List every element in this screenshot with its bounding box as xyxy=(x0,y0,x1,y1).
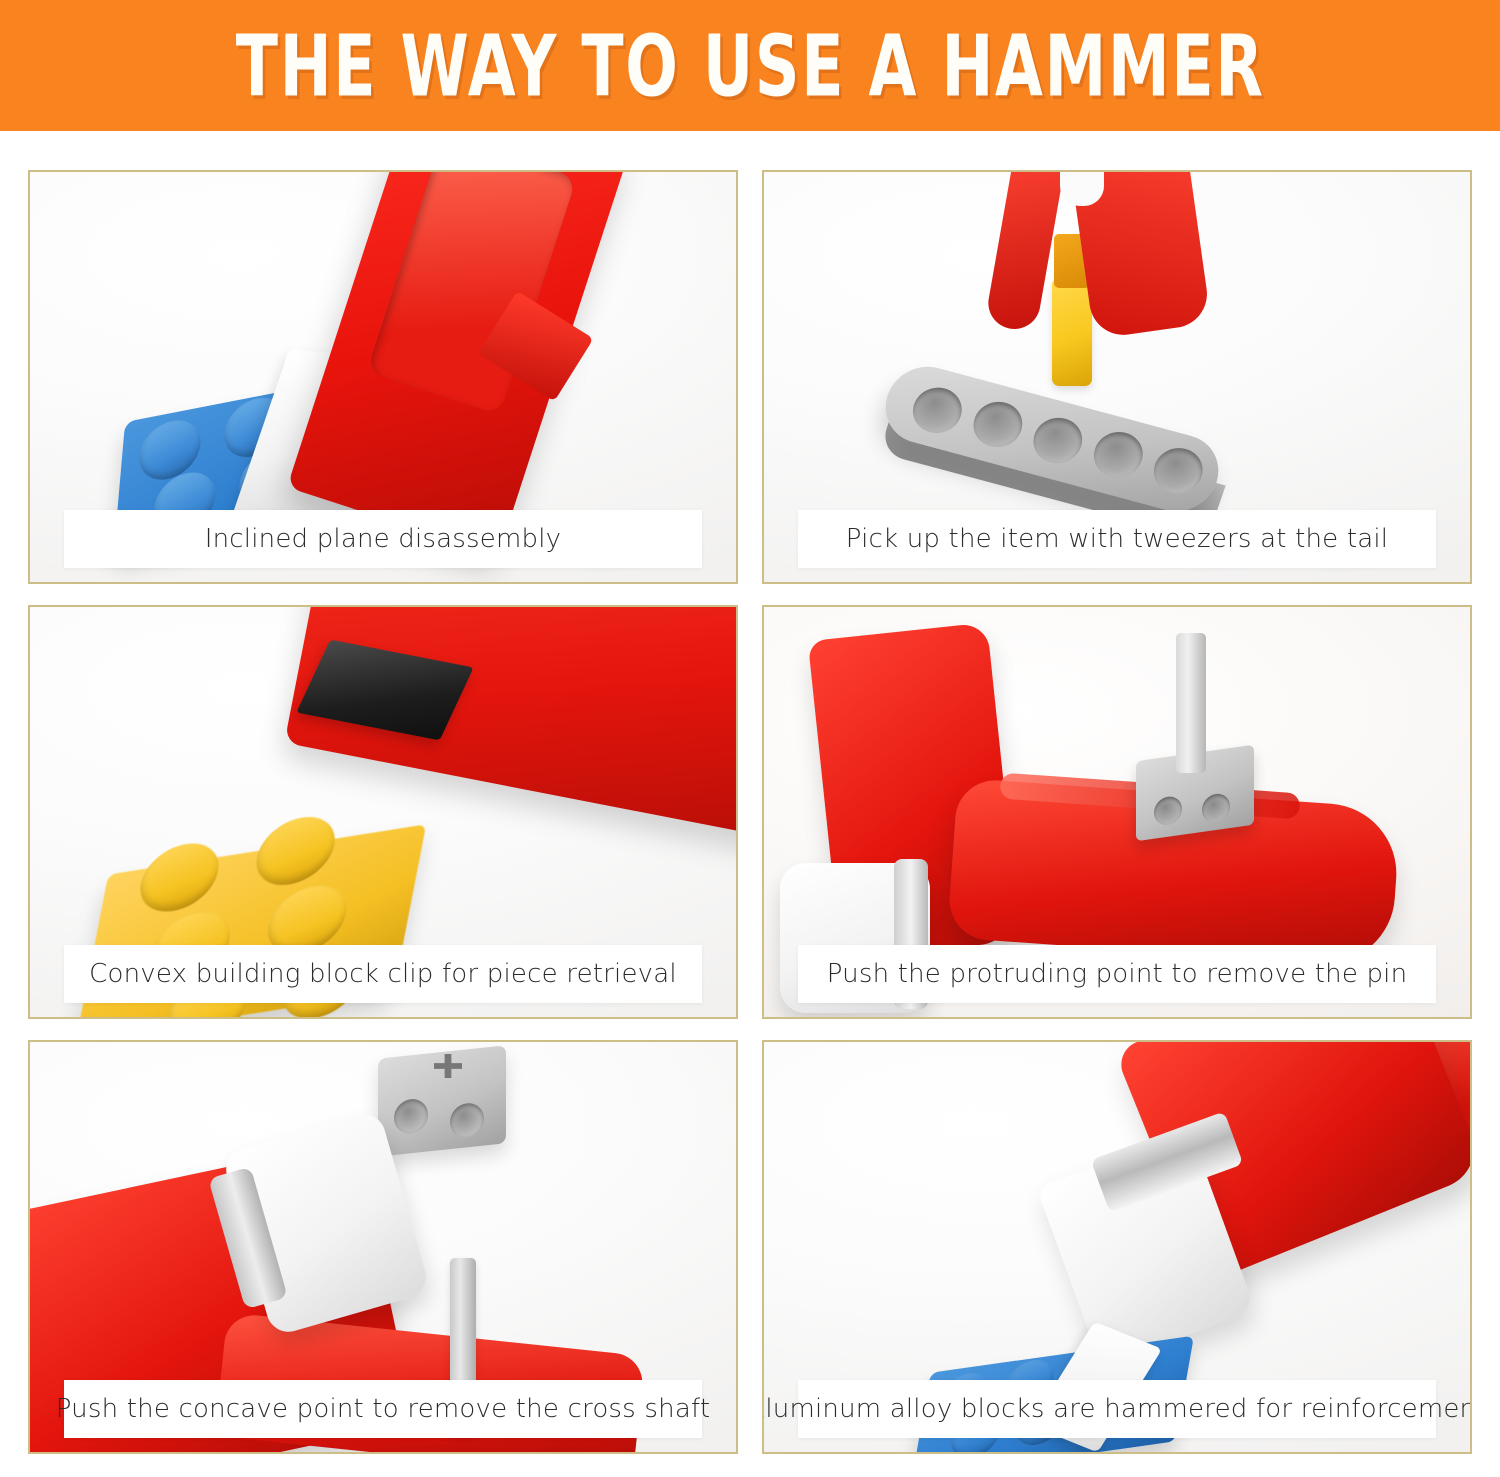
header-banner: THE WAY TO USE A HAMMER xyxy=(0,0,1500,131)
beam-hole xyxy=(967,396,1028,452)
block-hole xyxy=(1202,792,1230,824)
block-hole xyxy=(394,1097,428,1135)
step-cell-1: Inclined plane disassembly xyxy=(28,170,738,584)
infographic-page: THE WAY TO USE A HAMMER xyxy=(0,0,1500,1477)
caption-bar-5: Push the concave point to remove the cro… xyxy=(64,1380,702,1438)
gray-block-shape xyxy=(378,1045,506,1156)
caption-text-2: Pick up the item with tweezers at the ta… xyxy=(846,524,1388,554)
caption-bar-4: Push the protruding point to remove the … xyxy=(798,945,1436,1003)
yellow-pin-shape xyxy=(1052,278,1092,386)
beam-hole xyxy=(907,382,968,438)
caption-bar-2: Pick up the item with tweezers at the ta… xyxy=(798,510,1436,568)
step-cell-3: Convex building block clip for piece ret… xyxy=(28,605,738,1019)
caption-bar-3: Convex building block clip for piece ret… xyxy=(64,945,702,1003)
caption-bar-6: Aluminum alloy blocks are hammered for r… xyxy=(798,1380,1436,1438)
gray-axle-shape xyxy=(1176,633,1206,773)
step-cell-2: Pick up the item with tweezers at the ta… xyxy=(762,170,1472,584)
page-title: THE WAY TO USE A HAMMER xyxy=(236,16,1265,115)
beam-hole xyxy=(1148,443,1209,499)
beam-hole xyxy=(1088,427,1149,483)
step-cell-6: Aluminum alloy blocks are hammered for r… xyxy=(762,1040,1472,1454)
caption-text-3: Convex building block clip for piece ret… xyxy=(89,959,677,989)
caption-text-1: Inclined plane disassembly xyxy=(205,524,561,554)
caption-text-4: Push the protruding point to remove the … xyxy=(827,959,1408,989)
block-hole xyxy=(450,1102,484,1140)
caption-bar-1: Inclined plane disassembly xyxy=(64,510,702,568)
beam-hole xyxy=(1027,413,1088,469)
caption-text-5: Push the concave point to remove the cro… xyxy=(56,1394,710,1424)
step-cell-5: Push the concave point to remove the cro… xyxy=(28,1040,738,1454)
step-cell-4: Push the protruding point to remove the … xyxy=(762,605,1472,1019)
block-hole xyxy=(1154,795,1182,827)
caption-text-6: Aluminum alloy blocks are hammered for r… xyxy=(762,1394,1472,1424)
step-grid: Inclined plane disassembly xyxy=(28,170,1472,1454)
